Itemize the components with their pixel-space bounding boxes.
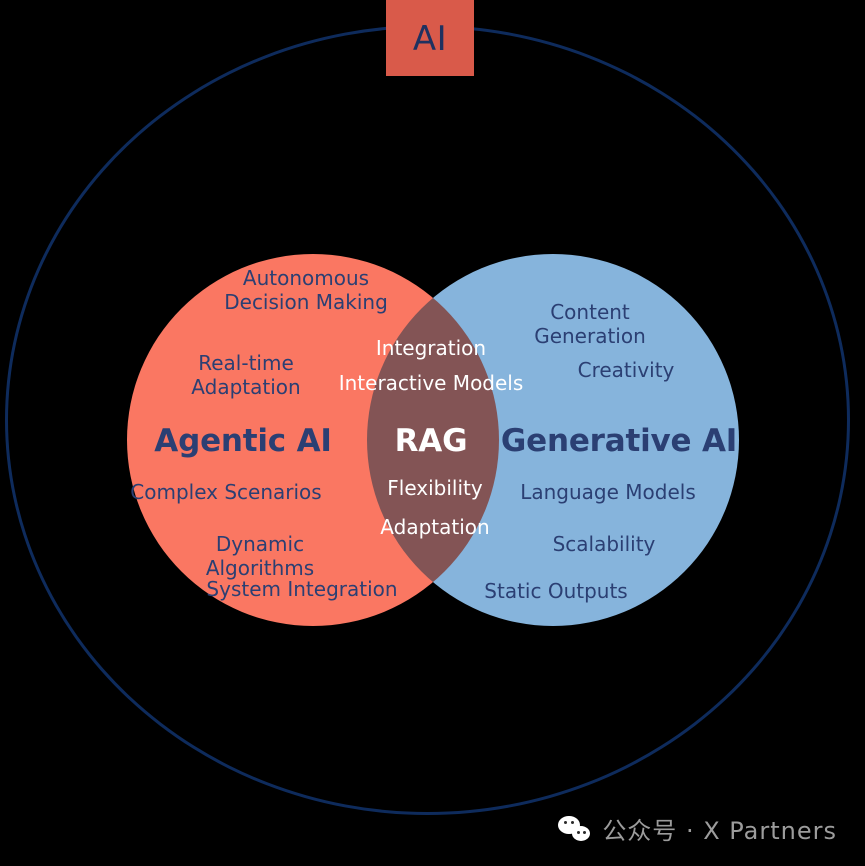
label-adaptation: Adaptation [350, 516, 520, 539]
label-flexibility: Flexibility [354, 477, 516, 500]
label-interactive-models: Interactive Models [330, 372, 532, 395]
generative-ai-title: Generative AI [492, 424, 746, 460]
label-real-time-adaptation: Real-time Adaptation [146, 351, 346, 400]
label-dynamic-line1: Dynamic [160, 532, 360, 556]
label-content-line1: Content [514, 300, 666, 324]
ai-label-text: AI [413, 11, 447, 59]
watermark: 公众号 · X Partners [558, 811, 837, 846]
label-realtime-line2: Adaptation [146, 375, 346, 399]
wechat-bubble-small [572, 826, 590, 841]
wechat-dot-4 [583, 831, 586, 834]
label-language-models: Language Models [512, 481, 704, 504]
wechat-dot-3 [577, 831, 580, 834]
label-autonomous-line1: Autonomous [156, 266, 456, 290]
label-autonomous-decision-making: Autonomous Decision Making [156, 266, 456, 315]
label-system-integration: System Integration [182, 578, 422, 601]
ai-label-box: AI [386, 0, 474, 76]
label-creativity: Creativity [548, 359, 704, 382]
rag-title: RAG [350, 424, 512, 460]
label-realtime-line1: Real-time [146, 351, 346, 375]
watermark-text: 公众号 · X Partners [602, 811, 837, 846]
label-dynamic-algorithms: Dynamic Algorithms [160, 532, 360, 581]
venn-text-layer: Autonomous Decision Making Real-time Ada… [0, 0, 865, 866]
wechat-dot-1 [564, 821, 567, 824]
label-static-outputs: Static Outputs [468, 580, 644, 603]
label-integration: Integration [350, 337, 512, 360]
label-scalability: Scalability [524, 533, 684, 556]
label-content-line2: Generation [514, 324, 666, 348]
label-complex-scenarios: Complex Scenarios [116, 481, 336, 504]
wechat-icon [558, 814, 592, 844]
wechat-dot-2 [571, 821, 574, 824]
label-content-generation: Content Generation [514, 300, 666, 349]
label-autonomous-line2: Decision Making [156, 290, 456, 314]
agentic-ai-title: Agentic AI [133, 424, 353, 460]
